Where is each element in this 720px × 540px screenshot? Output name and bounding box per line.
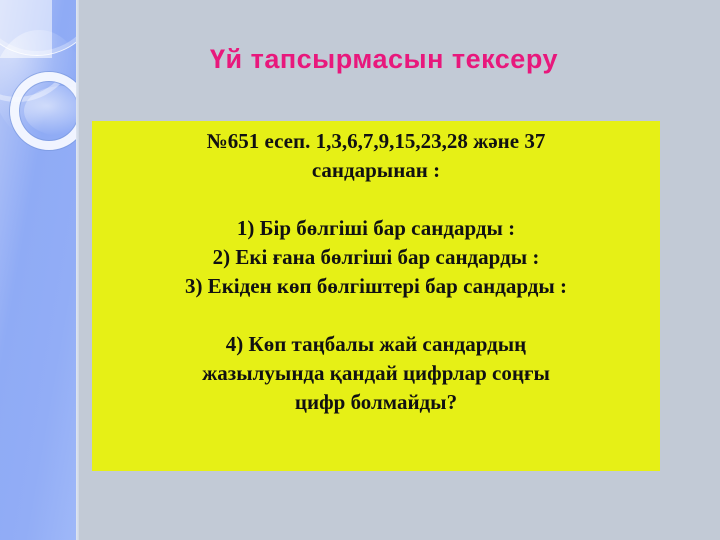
blank-line-2 [102, 301, 650, 330]
task-content-box: №651 есеп. 1,3,6,7,9,15,23,28 және 37 са… [92, 121, 660, 471]
task-heading-line-1: №651 есеп. 1,3,6,7,9,15,23,28 және 37 [102, 127, 650, 156]
task-item-2: 2) Екі ғана бөлгіші бар сандарды : [102, 243, 650, 272]
slide-canvas: Үй тапсырмасын тексеру №651 есеп. 1,3,6,… [0, 0, 720, 540]
task-question-line-2: жазылуында қандай цифрлар соңғы [102, 359, 650, 388]
task-item-1: 1) Бір бөлгіші бар сандарды : [102, 214, 650, 243]
band-divider [76, 0, 79, 540]
slide-title: Үй тапсырмасын тексеру [84, 42, 684, 76]
task-question-line-3: цифр болмайды? [102, 388, 650, 417]
task-heading-line-2: сандарынан : [102, 156, 650, 185]
decorative-left-band [0, 0, 76, 540]
task-question-line-1: 4) Көп таңбалы жай сандардың [102, 330, 650, 359]
blank-line-1 [102, 185, 650, 214]
task-item-3: 3) Екіден көп бөлгіштері бар сандарды : [102, 272, 650, 301]
